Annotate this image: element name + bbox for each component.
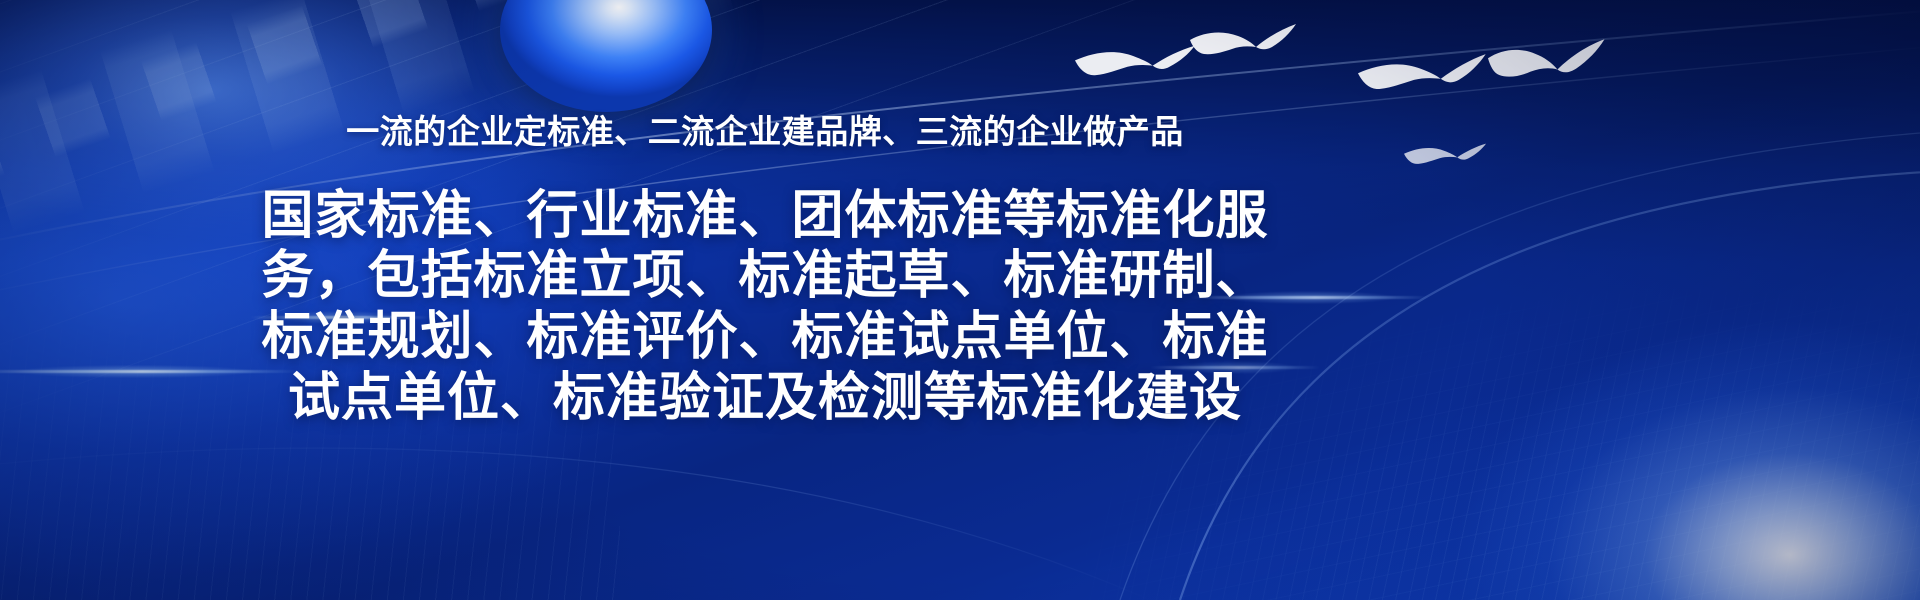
banner-subtitle: 一流的企业定标准、二流企业建品牌、三流的企业做产品 xyxy=(346,112,1184,152)
banner-text-block: 一流的企业定标准、二流企业建品牌、三流的企业做产品 国家标准、行业标准、团体标准… xyxy=(0,0,1530,600)
banner-headline: 国家标准、行业标准、团体标准等标准化服务，包括标准立项、标准起草、标准研制、标准… xyxy=(245,186,1285,429)
promo-banner: 一流的企业定标准、二流企业建品牌、三流的企业做产品 国家标准、行业标准、团体标准… xyxy=(0,0,1920,600)
